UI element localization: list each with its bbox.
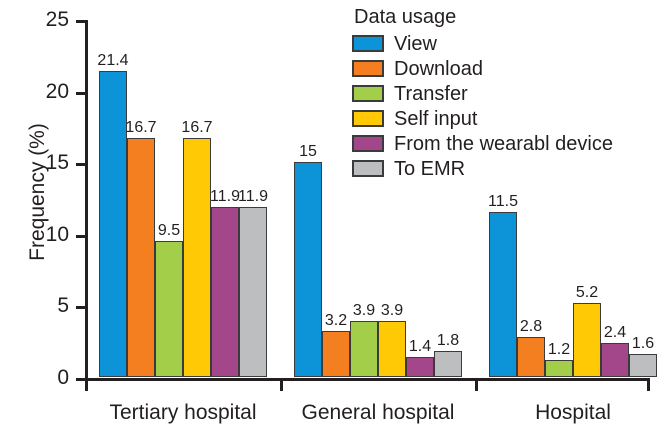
y-axis-tick: 5 [76,306,85,309]
bar-value-label: 11.9 [238,189,268,205]
bar[interactable]: 5.2 [573,303,601,377]
legend-item[interactable]: To EMR [352,156,613,181]
y-axis-tick: 15 [76,163,85,166]
x-axis-group-label: Tertiary hospital [109,402,256,423]
legend: Data usage ViewDownloadTransferSelf inpu… [352,6,613,181]
bar-value-label: 5.2 [576,285,598,301]
bar-value-label: 9.5 [158,223,180,239]
bar-value-label: 1.4 [409,339,431,355]
bar[interactable]: 3.2 [322,331,350,377]
bar-value-label: 2.4 [604,325,626,341]
bar-value-label: 3.2 [325,313,347,329]
legend-item-label: Transfer [394,84,468,104]
bar[interactable]: 1.2 [545,360,573,377]
bar[interactable]: 1.8 [434,351,462,377]
x-axis-tick [475,381,478,391]
y-axis-tick-label: 15 [46,152,69,173]
bar[interactable]: 21.4 [99,71,127,377]
bar[interactable]: 11.5 [489,212,517,377]
x-axis-tick [647,381,650,391]
bar[interactable]: 11.9 [239,207,267,377]
legend-swatch [352,60,384,77]
bar-value-label: 11.5 [488,194,518,210]
bar-value-label: 15 [299,144,317,160]
y-axis-tick: 10 [76,235,85,238]
y-axis-tick: 0 [76,378,85,381]
legend-item-label: To EMR [394,159,465,179]
bar[interactable]: 11.9 [211,207,239,377]
bar[interactable]: 16.7 [183,138,211,377]
bar[interactable]: 1.6 [629,354,657,377]
legend-item[interactable]: From the wearabl device [352,131,613,156]
bar[interactable]: 2.4 [601,343,629,377]
legend-item-label: View [394,34,437,54]
legend-swatch [352,85,384,102]
bar-value-label: 3.9 [353,303,375,319]
y-axis-tick: 25 [76,20,85,23]
legend-item[interactable]: Self input [352,106,613,131]
bar-chart: Frequency (%) 0510152025 21.416.79.516.7… [0,0,670,435]
bar[interactable]: 2.8 [517,337,545,377]
legend-swatch [352,35,384,52]
legend-item[interactable]: Transfer [352,81,613,106]
bar[interactable]: 15 [294,162,322,377]
bar-value-label: 11.9 [210,189,240,205]
y-axis-tick-label: 25 [46,9,69,30]
legend-item[interactable]: Download [352,56,613,81]
x-axis-tick [280,381,283,391]
bar-value-label: 1.6 [632,336,654,352]
bar-value-label: 2.8 [520,319,542,335]
bar-value-label: 1.2 [548,342,570,358]
bar[interactable]: 3.9 [350,321,378,377]
bar[interactable]: 3.9 [378,321,406,377]
bar-value-label: 3.9 [381,303,403,319]
x-axis-tick [85,381,88,391]
legend-item-label: From the wearabl device [394,134,613,154]
legend-item-label: Self input [394,109,477,129]
bar[interactable]: 16.7 [127,138,155,377]
y-axis-tick: 20 [76,92,85,95]
legend-swatch [352,110,384,127]
legend-title: Data usage [354,6,613,28]
legend-item-label: Download [394,59,483,79]
bar-value-label: 16.7 [125,120,156,136]
bar[interactable]: 9.5 [155,241,183,377]
bar[interactable]: 1.4 [406,357,434,377]
x-axis-line [85,378,650,381]
legend-item[interactable]: View [352,31,613,56]
bar-value-label: 16.7 [181,120,212,136]
y-axis-tick-label: 10 [46,224,69,245]
bar-value-label: 1.8 [437,333,459,349]
legend-swatch [352,135,384,152]
y-axis-line [85,20,88,381]
legend-items: ViewDownloadTransferSelf inputFrom the w… [352,31,613,181]
y-axis-tick-label: 5 [57,295,69,316]
bar-value-label: 21.4 [97,53,128,69]
x-axis-group-label: Hospital [535,402,611,423]
x-axis-group-label: General hospital [302,402,455,423]
legend-swatch [352,160,384,177]
y-axis-tick-label: 0 [57,367,69,388]
y-axis-tick-label: 20 [46,81,69,102]
